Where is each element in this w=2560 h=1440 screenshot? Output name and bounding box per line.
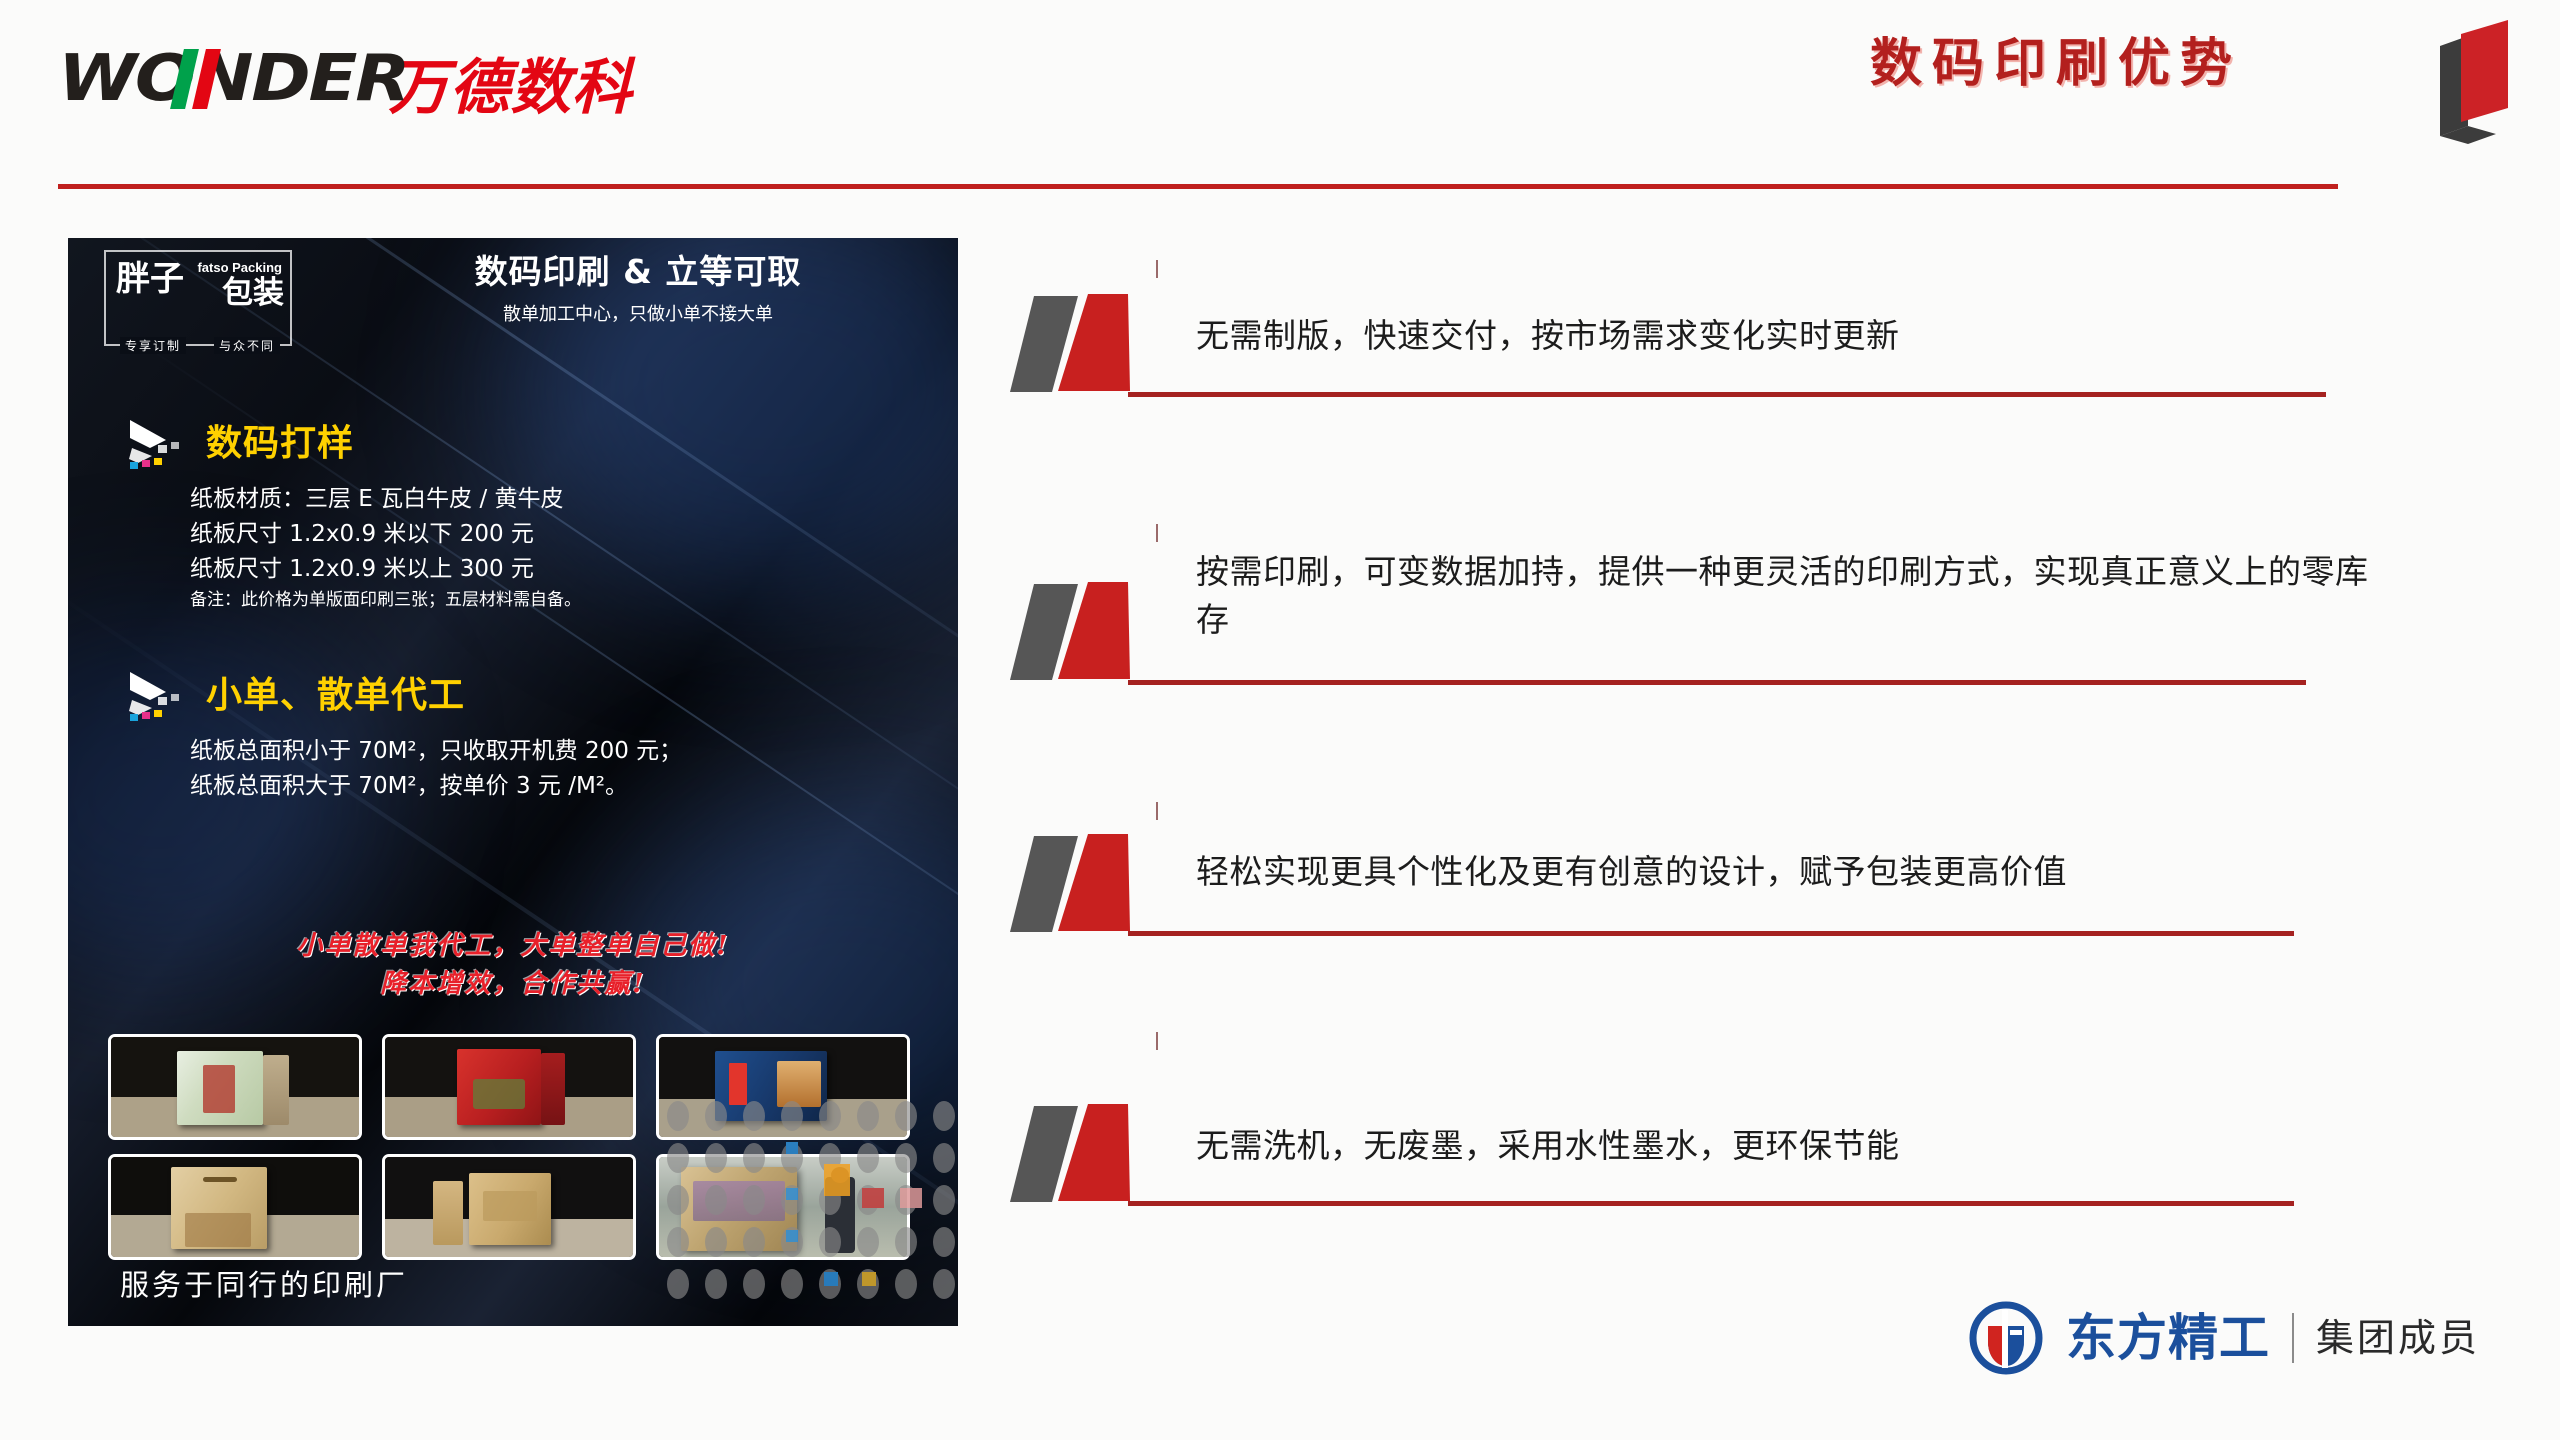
poster-section-2-line-1: 纸板总面积小于 70M²，只收取开机费 200 元； [190, 734, 682, 769]
product-photo [108, 1034, 362, 1140]
page-header: WONDER 万德数科 数码印刷优势 [0, 0, 2560, 190]
chevron-right-icon [128, 418, 190, 470]
poster-section-1-line-2: 纸板尺寸 1.2x0.9 米以下 200 元 [190, 517, 581, 552]
poster-section-1-title: 数码打样 [206, 426, 354, 462]
brand-logo: WONDER 万德数科 [58, 40, 633, 118]
fatso-logo-taglines: 专享订制 与众不同 [106, 337, 294, 354]
page-title: 数码印刷优势 [1870, 38, 2242, 90]
fatso-logo-main-text: 胖子 [116, 262, 184, 296]
brand-latin-text: WONDER [58, 47, 408, 111]
slant-bars-icon [1010, 830, 1160, 942]
poster-section-1-title-row: 数码打样 [128, 418, 581, 470]
company-name: 东方精工 [2066, 1313, 2270, 1363]
slant-bars-icon [1010, 578, 1160, 690]
poster-section-2-title-row: 小单、散单代工 [128, 670, 682, 722]
poster-slogan-line-1: 小单散单我代工，大单整单自己做! [68, 928, 958, 966]
poster-section-2-lines: 纸板总面积小于 70M²，只收取开机费 200 元； 纸板总面积大于 70M²，… [190, 734, 682, 804]
poster-section-1-line-3: 纸板尺寸 1.2x0.9 米以上 300 元 [190, 552, 581, 587]
book-icon [2406, 14, 2516, 144]
product-photo [382, 1154, 636, 1260]
advantage-bullet-1-underline [1128, 392, 2326, 397]
advantage-bullet-4-text: 无需洗机，无废墨，采用水性墨水，更环保节能 [1196, 1122, 2376, 1170]
advantage-bullet-3-text: 轻松实现更具个性化及更有创意的设计，赋予包装更高价值 [1196, 848, 2376, 896]
poster-section-1-line-1: 纸板材质：三层 E 瓦白牛皮 / 黄牛皮 [190, 482, 581, 517]
advantage-bullet-1-text: 无需制版，快速交付，按市场需求变化实时更新 [1196, 312, 2356, 360]
group-member-logo: 东方精工 集团成员 [1968, 1300, 2480, 1376]
bullet-tick-mark [1156, 260, 1158, 278]
poster-slogan: 小单散单我代工，大单整单自己做! 降本增效，合作共赢! [68, 928, 958, 1003]
poster-headline-block: 数码印刷 & 立等可取 散单加工中心，只做小单不接大单 [368, 252, 908, 326]
fatso-logo-english-text: fatso Packing [197, 260, 282, 275]
wonder-wordmark: WONDER [58, 40, 371, 118]
advantage-bullet-2-underline [1128, 680, 2306, 685]
header-divider [58, 184, 2338, 189]
logo-divider [2292, 1313, 2294, 1363]
promo-poster: 胖子 fatso Packing 包装 专享订制 与众不同 数码印刷 & 立等可… [68, 238, 958, 1326]
shield-circle-icon [1968, 1300, 2044, 1376]
chevron-right-icon [128, 670, 190, 722]
dot-pattern-decoration [658, 1096, 958, 1326]
poster-section-1: 数码打样 纸板材质：三层 E 瓦白牛皮 / 黄牛皮 纸板尺寸 1.2x0.9 米… [128, 418, 581, 614]
bullet-tick-mark [1156, 1032, 1158, 1050]
poster-section-2: 小单、散单代工 纸板总面积小于 70M²，只收取开机费 200 元； 纸板总面积… [128, 670, 682, 804]
fatso-logo-secondary-text: 包装 [222, 278, 284, 309]
slant-bars-icon [1010, 290, 1160, 402]
poster-subheadline: 散单加工中心，只做小单不接大单 [368, 300, 908, 326]
poster-section-1-lines: 纸板材质：三层 E 瓦白牛皮 / 黄牛皮 纸板尺寸 1.2x0.9 米以下 20… [190, 482, 581, 614]
bullet-tick-mark [1156, 524, 1158, 542]
poster-slogan-line-2: 降本增效，合作共赢! [68, 966, 958, 1004]
fatso-tagline-right: 与众不同 [214, 337, 280, 354]
advantage-bullet-2-text: 按需印刷，可变数据加持，提供一种更灵活的印刷方式，实现真正意义上的零库存 [1196, 548, 2394, 644]
product-photo [382, 1034, 636, 1140]
brand-chinese-text: 万德数科 [389, 58, 633, 118]
poster-section-2-title: 小单、散单代工 [206, 678, 465, 714]
slant-bars-icon [1010, 1100, 1160, 1212]
poster-headline: 数码印刷 & 立等可取 [368, 252, 908, 292]
poster-footer-text: 服务于同行的印刷厂 [120, 1262, 408, 1304]
advantage-bullet-3-underline [1128, 931, 2294, 936]
poster-section-2-line-2: 纸板总面积大于 70M²，按单价 3 元 /M²。 [190, 769, 682, 804]
poster-section-1-note: 备注：此价格为单版面印刷三张；五层材料需自备。 [190, 587, 581, 614]
bullet-tick-mark [1156, 802, 1158, 820]
group-member-label: 集团成员 [2316, 1319, 2480, 1357]
fatso-tagline-left: 专享订制 [120, 337, 186, 354]
fatso-packing-logo: 胖子 fatso Packing 包装 专享订制 与众不同 [104, 250, 292, 346]
product-photo [108, 1154, 362, 1260]
advantage-bullet-4-underline [1128, 1201, 2294, 1206]
